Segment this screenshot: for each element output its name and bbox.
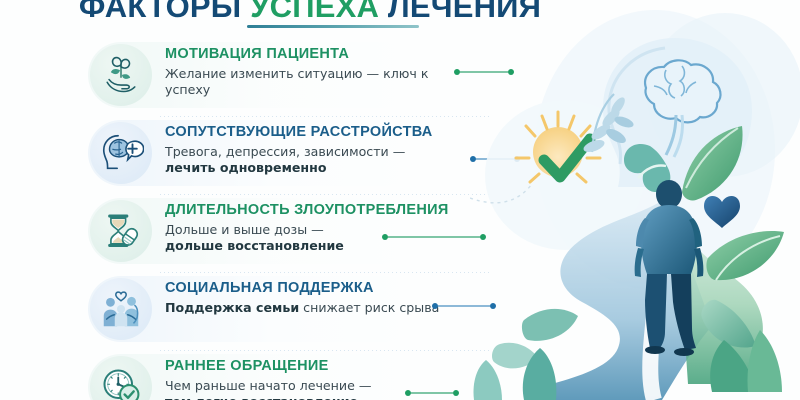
factor-sub-line1-4: снижает риск срыва xyxy=(299,300,439,315)
factor-sub-line2-2: лечить одновременно xyxy=(165,160,326,175)
hourglass-pill-icon xyxy=(90,200,152,262)
factor-sub-line1-3: Дольше и выше дозы — xyxy=(165,222,324,237)
hand-holding-plant-heart-icon xyxy=(90,44,152,106)
connector-bar xyxy=(411,392,453,394)
factor-row-1[interactable]: МОТИВАЦИЯ ПАЦИЕНТА Желание изменить ситу… xyxy=(0,38,520,116)
connector-dot-right xyxy=(453,390,459,396)
factor-text-1: МОТИВАЦИЯ ПАЦИЕНТА Желание изменить ситу… xyxy=(165,46,465,98)
factor-heading-4: СОЦИАЛЬНАЯ ПОДДЕРЖКА xyxy=(165,280,465,297)
connector-bar xyxy=(388,236,480,238)
title-part-2: УСПЕХА xyxy=(250,0,379,24)
factor-text-3: ДЛИТЕЛЬНОСТЬ ЗЛОУПОТРЕБЛЕНИЯ Дольше и вы… xyxy=(165,202,465,254)
factor-row-5[interactable]: РАННЕЕ ОБРАЩЕНИЕ Чем раньше начато лечен… xyxy=(0,350,520,400)
row-separator xyxy=(160,272,490,273)
head-brain-medical-plus-icon xyxy=(90,122,152,184)
title-divider xyxy=(247,25,419,28)
factor-subtitle-4: Поддержка семьи снижает риск срыва xyxy=(165,300,465,316)
title-part-1: ФАКТОРЫ xyxy=(79,0,241,24)
row-separator xyxy=(160,194,490,195)
factor-subtitle-2: Тревога, депрессия, зависимости — лечить… xyxy=(165,144,465,176)
infographic-canvas: ФАКТОРЫ УСПЕХА ЛЕЧЕНИЯ МОТИВ xyxy=(0,0,800,400)
recovery-journey-illustration xyxy=(470,0,800,400)
factor-heading-5: РАННЕЕ ОБРАЩЕНИЕ xyxy=(165,358,465,375)
family-embrace-heart-icon xyxy=(90,278,152,340)
factor-text-4: СОЦИАЛЬНАЯ ПОДДЕРЖКА Поддержка семьи сни… xyxy=(165,280,465,316)
factor-sub-line1-1: Желание изменить ситуацию — ключ к успех… xyxy=(165,66,428,97)
factor-sub-bold-4: Поддержка семьи xyxy=(165,300,299,315)
factor-sub-line2-5: тем легче восстановление xyxy=(165,394,358,400)
factor-sub-line1-5: Чем раньше начато лечение — xyxy=(165,378,371,393)
factor-row-4[interactable]: СОЦИАЛЬНАЯ ПОДДЕРЖКА Поддержка семьи сни… xyxy=(0,272,520,350)
factor-heading-3: ДЛИТЕЛЬНОСТЬ ЗЛОУПОТРЕБЛЕНИЯ xyxy=(165,202,465,219)
factor-heading-1: МОТИВАЦИЯ ПАЦИЕНТА xyxy=(165,46,465,63)
factor-subtitle-1: Желание изменить ситуацию — ключ к успех… xyxy=(165,66,465,98)
factor-heading-2: СОПУТСТВУЮЩИЕ РАССТРОЙСТВА xyxy=(165,124,465,141)
factor-sub-line2-3: дольше восстановление xyxy=(165,238,344,253)
factor-text-2: СОПУТСТВУЮЩИЕ РАССТРОЙСТВА Тревога, депр… xyxy=(165,124,465,176)
row-separator xyxy=(160,116,490,117)
factor-row-3[interactable]: ДЛИТЕЛЬНОСТЬ ЗЛОУПОТРЕБЛЕНИЯ Дольше и вы… xyxy=(0,194,520,272)
row-separator xyxy=(160,350,490,351)
factor-list: МОТИВАЦИЯ ПАЦИЕНТА Желание изменить ситу… xyxy=(0,38,520,400)
factor-sub-line1-2: Тревога, депрессия, зависимости — xyxy=(165,144,405,159)
factor-row-2[interactable]: СОПУТСТВУЮЩИЕ РАССТРОЙСТВА Тревога, депр… xyxy=(0,116,520,194)
